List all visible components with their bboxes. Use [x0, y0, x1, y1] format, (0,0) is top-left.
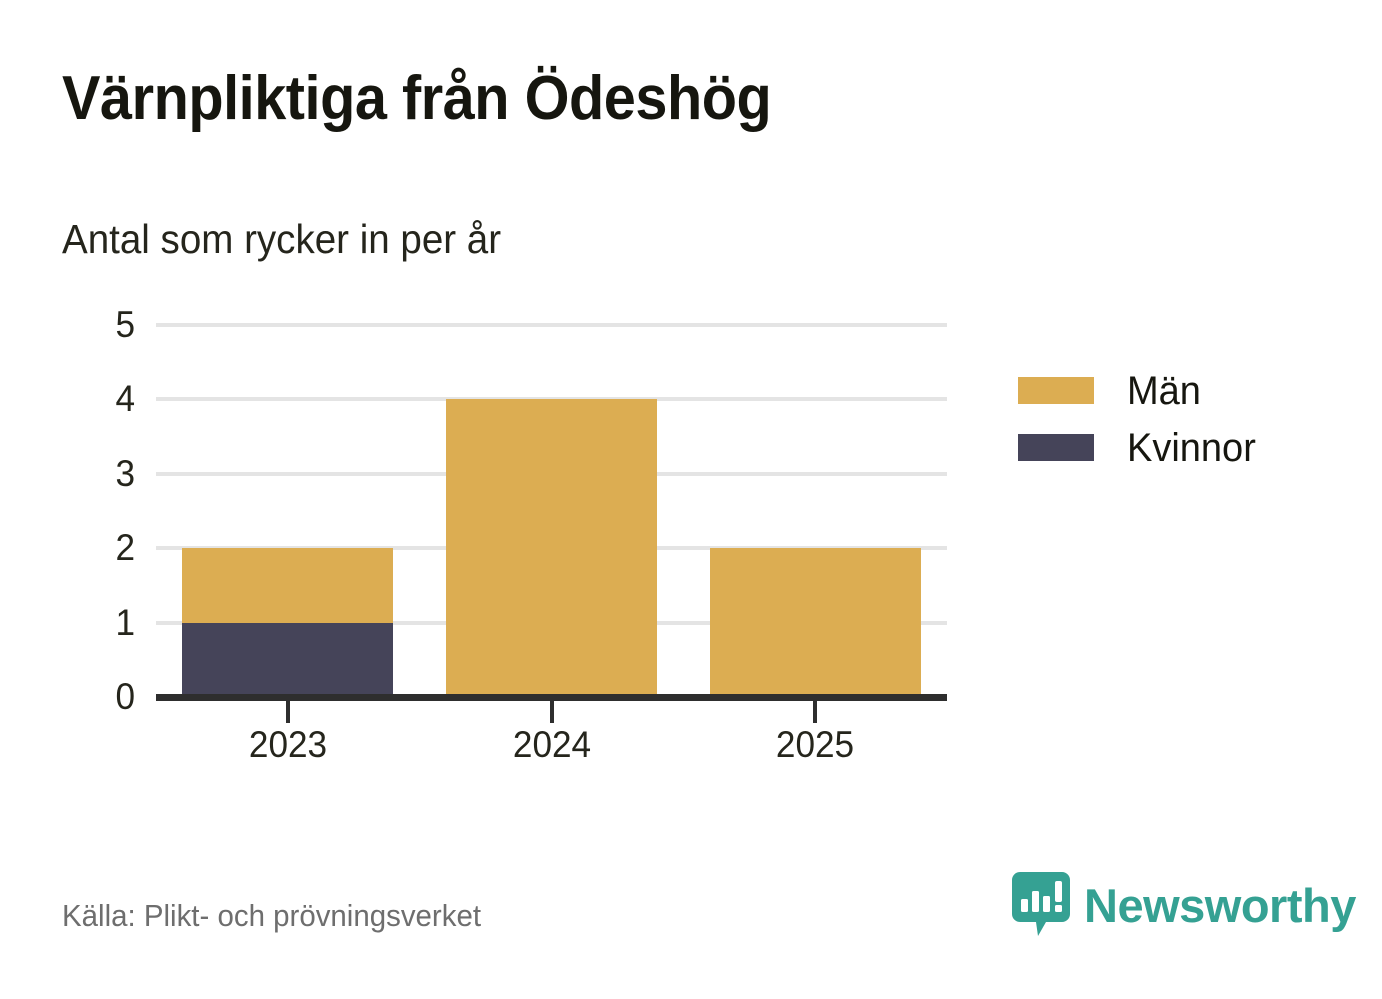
y-axis-tick-label: 0: [78, 678, 135, 715]
legend-swatch-men: [1018, 377, 1094, 404]
legend-label-men: Män: [1127, 371, 1201, 411]
legend-label-women: Kvinnor: [1127, 428, 1256, 468]
legend-item-men[interactable]: Män: [1018, 362, 1263, 419]
y-axis-tick-label: 5: [78, 306, 135, 343]
y-axis-tick-label: 3: [78, 455, 135, 492]
legend-swatch-women: [1018, 434, 1094, 461]
x-axis-line: [156, 694, 947, 701]
x-axis-tick-label-2024: 2024: [448, 726, 657, 763]
y-axis-tick-label: 2: [78, 529, 135, 566]
chart-plot-area: 012345 202320242025: [0, 0, 1382, 999]
gridline-5: [156, 323, 947, 327]
x-axis-tick-label-2025: 2025: [711, 726, 920, 763]
bar-kvinnor-2023[interactable]: [182, 623, 393, 697]
x-axis-tick-label-2023: 2023: [184, 726, 393, 763]
x-axis-tick-mark: [813, 701, 817, 723]
bar-män-2024[interactable]: [446, 399, 657, 697]
chart-page: Värnpliktiga från Ödeshög Antal som ryck…: [0, 0, 1382, 999]
newsworthy-bubble-chart-icon: [1012, 872, 1070, 938]
x-axis-tick-mark: [550, 701, 554, 723]
bar-män-2025[interactable]: [710, 548, 921, 697]
source-note: Källa: Plikt- och prövningsverket: [62, 900, 481, 931]
brand-name: Newsworthy: [1084, 882, 1356, 929]
legend-item-women[interactable]: Kvinnor: [1018, 419, 1263, 476]
bar-män-2023[interactable]: [182, 548, 393, 622]
chart-legend: Män Kvinnor: [1018, 362, 1263, 476]
y-axis-tick-label: 4: [78, 380, 135, 417]
x-axis-tick-mark: [286, 701, 290, 723]
y-axis-tick-label: 1: [78, 604, 135, 641]
brand-logo[interactable]: Newsworthy: [1012, 872, 1356, 938]
